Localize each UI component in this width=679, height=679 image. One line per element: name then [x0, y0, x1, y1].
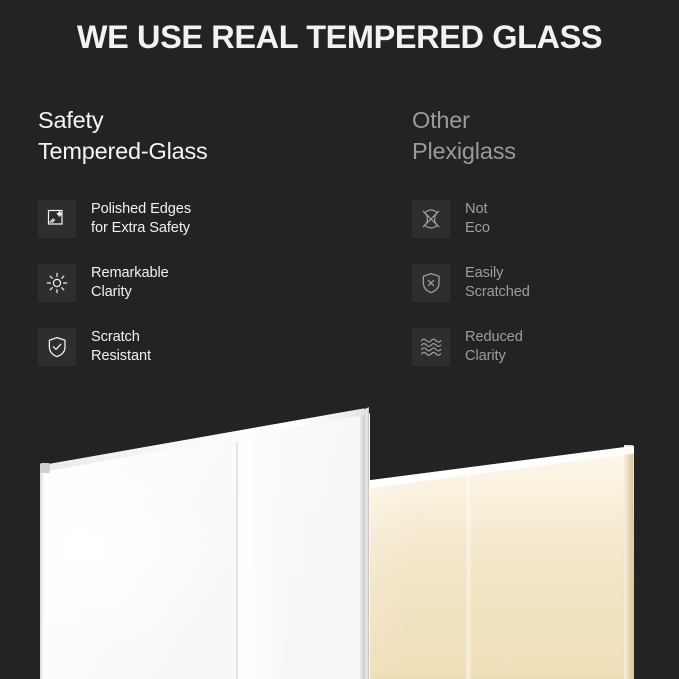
feature-easily-scratched-label: Easily Scratched	[465, 264, 530, 301]
comparison-infographic: WE USE REAL TEMPERED GLASS Safety Temper…	[0, 0, 679, 679]
feature-remarkable-clarity: Remarkable Clarity	[38, 262, 368, 304]
feature-scratch-resistant-label: Scratch Resistant	[91, 328, 151, 365]
column-heading-left: Safety Tempered-Glass	[38, 105, 368, 168]
column-heading-left-line2: Tempered-Glass	[38, 136, 368, 167]
feature-line-2: Resistant	[91, 347, 151, 366]
glass-reflection-band	[231, 403, 370, 679]
feature-easily-scratched: Easily Scratched	[412, 262, 672, 304]
tempered-glass-panel-right-rim	[358, 407, 369, 679]
column-heading-left-line1: Safety	[38, 105, 368, 136]
polished-edge-sparkle-icon	[38, 200, 76, 238]
feature-line-2: Scratched	[465, 283, 530, 302]
column-safety-tempered-glass: Safety Tempered-Glass Polished Edges for…	[38, 105, 368, 390]
feature-line-1: Remarkable	[91, 264, 169, 283]
glass-highlight	[40, 453, 238, 668]
plexiglass-sheen	[465, 417, 472, 679]
page-title: WE USE REAL TEMPERED GLASS	[0, 20, 679, 56]
leaf-crossed-out-icon	[412, 200, 450, 238]
feature-remarkable-clarity-label: Remarkable Clarity	[91, 264, 169, 301]
plexiglass-panel-right-rim	[624, 445, 633, 679]
feature-line-2: Eco	[465, 219, 490, 238]
feature-reduced-clarity: Reduced Clarity	[412, 326, 672, 368]
sun-clarity-icon	[38, 264, 76, 302]
column-heading-right-line2: Plexiglass	[412, 136, 672, 167]
feature-not-eco-label: Not Eco	[465, 200, 490, 237]
shield-x-icon	[412, 264, 450, 302]
feature-line-1: Not	[465, 200, 490, 219]
glass-reflection-seam	[236, 442, 238, 679]
feature-line-1: Scratch	[91, 328, 151, 347]
feature-polished-edges-label: Polished Edges for Extra Safety	[91, 200, 191, 237]
product-photo	[0, 395, 679, 679]
feature-polished-edges: Polished Edges for Extra Safety	[38, 198, 368, 240]
feature-reduced-clarity-label: Reduced Clarity	[465, 328, 523, 365]
column-heading-right-line1: Other	[412, 105, 672, 136]
feature-line-1: Easily	[465, 264, 530, 283]
wavy-lines-distortion-icon	[412, 328, 450, 366]
shield-check-icon	[38, 328, 76, 366]
feature-line-2: for Extra Safety	[91, 219, 191, 238]
column-heading-right: Other Plexiglass	[412, 105, 672, 168]
tempered-glass-panel-corner	[40, 463, 50, 473]
feature-line-1: Polished Edges	[91, 200, 191, 219]
feature-line-2: Clarity	[91, 283, 169, 302]
feature-line-2: Clarity	[465, 347, 523, 366]
feature-scratch-resistant: Scratch Resistant	[38, 326, 368, 368]
feature-line-1: Reduced	[465, 328, 523, 347]
feature-not-eco: Not Eco	[412, 198, 672, 240]
tempered-glass-panel-left-rim	[40, 467, 45, 679]
column-other-plexiglass: Other Plexiglass Not Eco	[412, 105, 672, 390]
tempered-glass-panel	[40, 403, 370, 679]
